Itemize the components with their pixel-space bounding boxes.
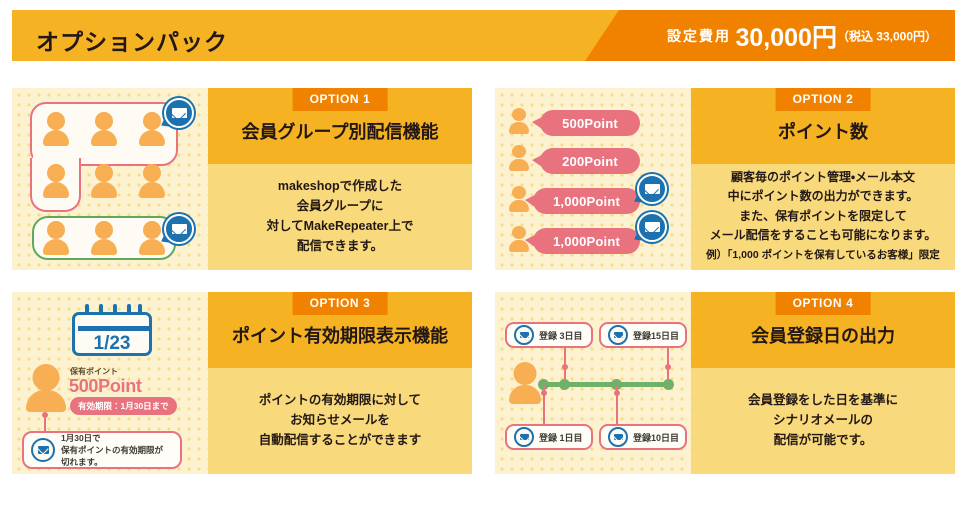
option-card-3: 1/23 保有ポイント 500Point 有効期限：1月30日まで 1月30日で xyxy=(12,292,472,474)
callout-line: 1月30日で xyxy=(61,432,163,444)
header-banner: オプションパック 設定費用 30,000円（税込 33,000円） xyxy=(12,10,955,61)
body-note: 例）「1,000 ポイントを保有しているお客様」限定 xyxy=(706,247,940,264)
person-icon xyxy=(91,164,117,198)
price-tax: （税込 33,000円） xyxy=(837,29,937,43)
calendar-icon: 1/23 xyxy=(72,304,152,356)
point-value: 500Point xyxy=(69,376,142,397)
mail-icon xyxy=(635,172,669,206)
point-bubble: 500Point xyxy=(540,110,640,136)
timeline-connector-dot xyxy=(614,390,620,396)
body-line: シナリオメールの xyxy=(773,410,873,430)
card-header-1: OPTION 1 会員グループ別配信機能 xyxy=(208,88,472,164)
page-title: オプションパック xyxy=(36,23,228,57)
person-icon xyxy=(509,145,529,171)
card-title: ポイント数 xyxy=(691,118,955,144)
person-icon xyxy=(26,364,66,412)
mail-icon xyxy=(608,427,628,447)
card-info-2: OPTION 2 ポイント数 顧客毎のポイント管理・メール本文 中にポイント数の… xyxy=(691,88,955,270)
callout-text: 1月30日で 保有ポイントの有効期限が 切れます。 xyxy=(61,432,163,469)
person-icon xyxy=(509,108,529,134)
timeline-node xyxy=(663,379,674,390)
illustration-member-groups xyxy=(12,88,208,270)
timeline-label: 登録 1日目 xyxy=(539,431,583,444)
point-bubble: 1,000Point xyxy=(533,228,640,254)
option-card-2: 500Point 200Point 1,000Point 1,000Point … xyxy=(495,88,955,270)
option-card-4: 登録 3日目 登録15日目 登録 1日目 登録10日目 OPTION 4 xyxy=(495,292,955,474)
card-title: ポイント有効期限表示機能 xyxy=(208,322,472,348)
illustration-registration-timeline: 登録 3日目 登録15日目 登録 1日目 登録10日目 xyxy=(495,292,691,474)
card-header-3: OPTION 3 ポイント有効期限表示機能 xyxy=(208,292,472,368)
timeline-node xyxy=(559,379,570,390)
card-body-4: 会員登録をした日を基準に シナリオメールの 配信が可能です。 xyxy=(691,368,955,474)
mail-icon xyxy=(162,212,196,246)
callout-line: 保有ポイントの有効期限が xyxy=(61,444,163,456)
expiry-badge: 有効期限：1月30日まで xyxy=(70,397,177,415)
card-title: 会員登録日の出力 xyxy=(691,322,955,348)
body-line: 会員登録をした日を基準に xyxy=(748,390,898,410)
timeline-label-box: 登録15日目 xyxy=(599,322,687,348)
illustration-point-expiry: 1/23 保有ポイント 500Point 有効期限：1月30日まで 1月30日で xyxy=(12,292,208,474)
card-body-3: ポイントの有効期限に対して お知らせメールを 自動配信することができます xyxy=(208,368,472,474)
option-badge: OPTION 3 xyxy=(293,292,388,315)
mail-icon xyxy=(608,325,628,345)
timeline-label: 登録10日目 xyxy=(633,431,679,444)
option-badge: OPTION 4 xyxy=(776,292,871,315)
card-info-3: OPTION 3 ポイント有効期限表示機能 ポイントの有効期限に対して お知らせ… xyxy=(208,292,472,474)
callout-line: 切れます。 xyxy=(61,456,163,468)
expiry-callout: 1月30日で 保有ポイントの有効期限が 切れます。 xyxy=(22,431,182,469)
timeline-connector-dot xyxy=(541,390,547,396)
person-icon xyxy=(43,164,69,198)
body-line: また、保有ポイントを限定して xyxy=(739,207,907,226)
person-icon xyxy=(91,112,117,146)
option-card-1: OPTION 1 会員グループ別配信機能 makeshopで作成した 会員グルー… xyxy=(12,88,472,270)
mail-icon xyxy=(635,210,669,244)
card-header-4: OPTION 4 会員登録日の出力 xyxy=(691,292,955,368)
callout-stem-dot xyxy=(42,412,48,418)
timeline-label-box: 登録 3日目 xyxy=(505,322,593,348)
body-line: お知らせメールを xyxy=(290,410,390,430)
body-line: 配信できます。 xyxy=(297,236,383,256)
card-title: 会員グループ別配信機能 xyxy=(208,118,472,144)
card-header-2: OPTION 2 ポイント数 xyxy=(691,88,955,164)
option-badge: OPTION 2 xyxy=(776,88,871,111)
person-icon xyxy=(91,221,117,255)
body-line: 配信が可能です。 xyxy=(774,430,873,450)
timeline-label: 登録 3日目 xyxy=(539,329,583,342)
option-badge: OPTION 1 xyxy=(293,88,388,111)
point-bubble: 200Point xyxy=(540,148,640,174)
timeline-label-box: 登録 1日目 xyxy=(505,424,593,450)
body-line: メール配信をすることも可能になります。 xyxy=(710,226,937,245)
person-icon xyxy=(43,221,69,255)
group-outline-joiner xyxy=(33,156,79,164)
option-pack-infographic: オプションパック 設定費用 30,000円（税込 33,000円） xyxy=(0,0,967,505)
body-line: makeshopで作成した xyxy=(278,176,402,196)
card-body-1: makeshopで作成した 会員グループに 対してMakeRepeater上で … xyxy=(208,164,472,270)
person-icon xyxy=(139,164,165,198)
timeline-connector-dot xyxy=(562,364,568,370)
price-text: 設定費用 30,000円（税込 33,000円） xyxy=(667,18,937,54)
price-label: 設定費用 xyxy=(667,28,731,44)
mail-icon xyxy=(514,325,534,345)
timeline-label-box: 登録10日目 xyxy=(599,424,687,450)
card-info-4: OPTION 4 会員登録日の出力 会員登録をした日を基準に シナリオメールの … xyxy=(691,292,955,474)
body-line: 自動配信することができます xyxy=(259,430,422,450)
point-bubble: 1,000Point xyxy=(533,188,640,214)
option-card-grid: OPTION 1 会員グループ別配信機能 makeshopで作成した 会員グルー… xyxy=(12,88,955,488)
timeline-connector-dot xyxy=(665,364,671,370)
body-line: ポイントの有効期限に対して xyxy=(259,390,421,410)
price-panel: 設定費用 30,000円（税込 33,000円） xyxy=(585,10,955,61)
body-line: 会員グループに xyxy=(297,196,384,216)
price-amount: 30,000円 xyxy=(735,24,836,52)
timeline-label: 登録15日目 xyxy=(633,329,679,342)
calendar-date: 1/23 xyxy=(75,333,149,355)
card-info-1: OPTION 1 会員グループ別配信機能 makeshopで作成した 会員グルー… xyxy=(208,88,472,270)
person-icon xyxy=(43,112,69,146)
body-line: 中にポイント数の出力ができます。 xyxy=(728,187,919,206)
mail-icon xyxy=(514,427,534,447)
body-line: 対してMakeRepeater上で xyxy=(267,216,414,236)
mail-icon xyxy=(31,438,55,462)
card-body-2: 顧客毎のポイント管理・メール本文 中にポイント数の出力ができます。 また、保有ポ… xyxy=(691,164,955,270)
body-line: 顧客毎のポイント管理・メール本文 xyxy=(731,168,915,187)
illustration-point-bubbles: 500Point 200Point 1,000Point 1,000Point xyxy=(495,88,691,270)
mail-icon xyxy=(162,96,196,130)
person-icon xyxy=(509,362,541,404)
